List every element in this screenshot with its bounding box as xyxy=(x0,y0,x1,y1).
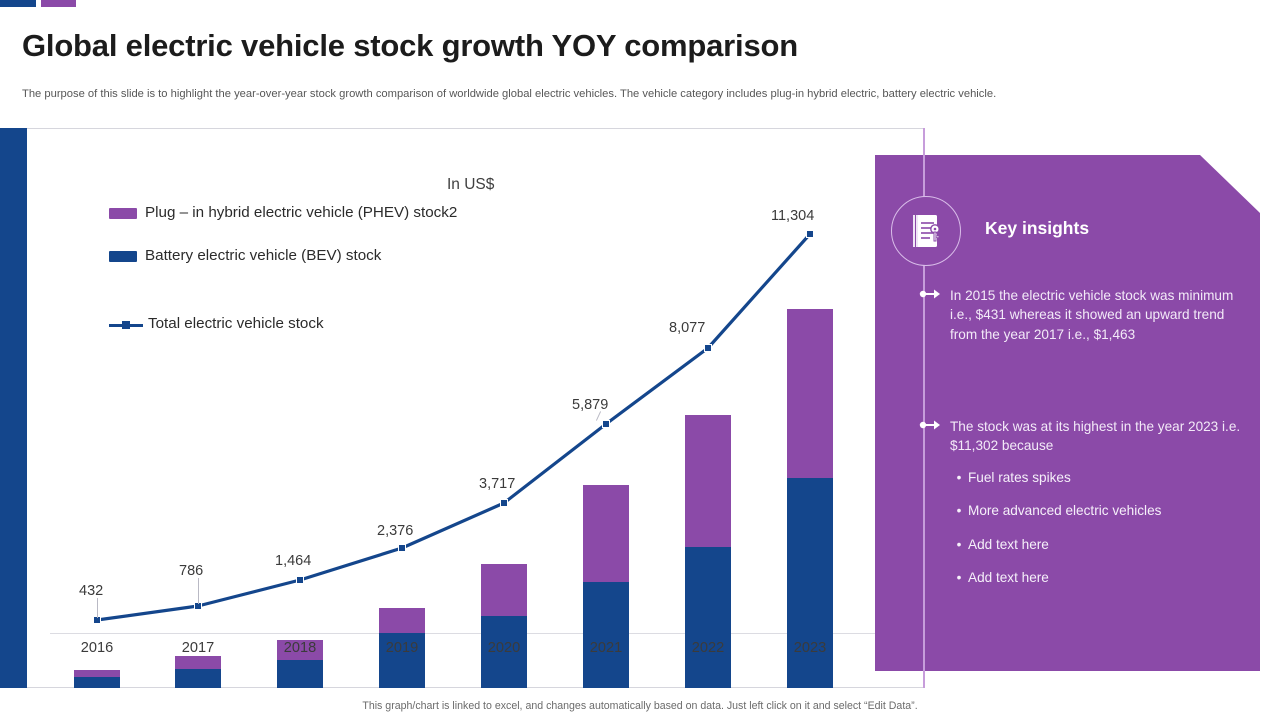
label-2021: 5,879 xyxy=(572,397,608,413)
xtick-2017: 2017 xyxy=(153,640,243,656)
insight-text-2: The stock was at its highest in the year… xyxy=(950,417,1250,456)
bar-2019-phev xyxy=(379,608,425,633)
legend-item-phev[interactable]: Plug – in hybrid electric vehicle (PHEV)… xyxy=(109,203,509,224)
xtick-2023: 2023 xyxy=(765,640,855,656)
leader-2016 xyxy=(97,598,98,618)
page-subtitle: The purpose of this slide is to highligh… xyxy=(22,88,996,100)
bullet-label: Fuel rates spikes xyxy=(968,468,1071,487)
bar-2021-bev xyxy=(583,582,629,688)
legend-item-bev[interactable]: Battery electric vehicle (BEV) stock xyxy=(109,246,509,267)
legend-label-bev: Battery electric vehicle (BEV) stock xyxy=(145,246,381,267)
bullet-label: Add text here xyxy=(968,535,1049,554)
list-item: •Add text here xyxy=(950,535,1250,554)
ev-stock-chart[interactable]: In US$ Plug – in hybrid electric vehicle… xyxy=(27,128,925,688)
legend-item-total[interactable]: Total electric vehicle stock xyxy=(109,314,509,335)
legend-label-total: Total electric vehicle stock xyxy=(148,314,324,335)
label-2023: 11,304 xyxy=(771,208,814,224)
label-2019: 2,376 xyxy=(377,523,413,539)
left-accent-rail xyxy=(0,128,27,688)
insight-text-1: In 2015 the electric vehicle stock was m… xyxy=(950,286,1250,344)
bar-2023-phev xyxy=(787,309,833,478)
bullet-dot-icon: • xyxy=(950,568,968,587)
legend-label-phev: Plug – in hybrid electric vehicle (PHEV)… xyxy=(145,203,457,224)
footer-note: This graph/chart is linked to excel, and… xyxy=(0,700,1280,712)
insights-title: Key insights xyxy=(985,218,1089,239)
bev-swatch xyxy=(109,251,137,262)
notebook-key-icon xyxy=(891,196,961,266)
bar-2023-bev xyxy=(787,478,833,688)
bar-2017-bev xyxy=(175,669,221,688)
chart-legend: Plug – in hybrid electric vehicle (PHEV)… xyxy=(109,203,509,356)
label-2017: 786 xyxy=(179,563,203,579)
point-2021[interactable] xyxy=(602,420,610,428)
label-2020: 3,717 xyxy=(479,476,515,492)
leader-2017 xyxy=(198,578,199,604)
point-2023[interactable] xyxy=(806,230,814,238)
bullet-dot-icon: • xyxy=(950,501,968,520)
xtick-2022: 2022 xyxy=(663,640,753,656)
label-2018: 1,464 xyxy=(275,553,311,569)
bullet-label: More advanced electric vehicles xyxy=(968,501,1161,520)
insight-bullet-list: •Fuel rates spikes •More advanced electr… xyxy=(950,460,1250,601)
insight-arrow-icon-2 xyxy=(919,419,941,431)
point-2022[interactable] xyxy=(704,344,712,352)
xtick-2018: 2018 xyxy=(255,640,345,656)
bar-2016[interactable] xyxy=(74,670,120,688)
bar-2016-phev xyxy=(74,670,120,677)
list-item: •Add text here xyxy=(950,568,1250,587)
bullet-dot-icon: • xyxy=(950,468,968,487)
total-line-marker-icon xyxy=(109,319,143,331)
bullet-dot-icon: • xyxy=(950,535,968,554)
point-2019[interactable] xyxy=(398,544,406,552)
bar-2021-phev xyxy=(583,485,629,582)
bar-2020-phev xyxy=(481,564,527,616)
bar-2020[interactable] xyxy=(481,564,527,688)
bullet-label: Add text here xyxy=(968,568,1049,587)
insight-arrow-icon-1 xyxy=(919,288,941,300)
accent-bar-purple xyxy=(41,0,76,7)
list-item: •Fuel rates spikes xyxy=(950,468,1250,487)
point-2020[interactable] xyxy=(500,499,508,507)
point-2018[interactable] xyxy=(296,576,304,584)
xtick-2020: 2020 xyxy=(459,640,549,656)
bar-2022-phev xyxy=(685,415,731,547)
bar-2017[interactable] xyxy=(175,656,221,688)
page-title: Global electric vehicle stock growth YOY… xyxy=(22,28,798,64)
list-item: •More advanced electric vehicles xyxy=(950,501,1250,520)
label-2016: 432 xyxy=(79,583,103,599)
chart-unit-label: In US$ xyxy=(447,176,494,194)
bar-2017-phev xyxy=(175,656,221,669)
xtick-2021: 2021 xyxy=(561,640,651,656)
phev-swatch xyxy=(109,208,137,219)
chart-x-axis xyxy=(50,633,883,634)
xtick-2019: 2019 xyxy=(357,640,447,656)
bar-2016-bev xyxy=(74,677,120,688)
accent-bar-blue xyxy=(0,0,36,7)
xtick-2016: 2016 xyxy=(52,640,142,656)
bar-2023[interactable] xyxy=(787,309,833,688)
bar-2022-bev xyxy=(685,547,731,688)
label-2022: 8,077 xyxy=(669,320,705,336)
bar-2018-bev xyxy=(277,660,323,688)
bar-2021[interactable] xyxy=(583,485,629,688)
